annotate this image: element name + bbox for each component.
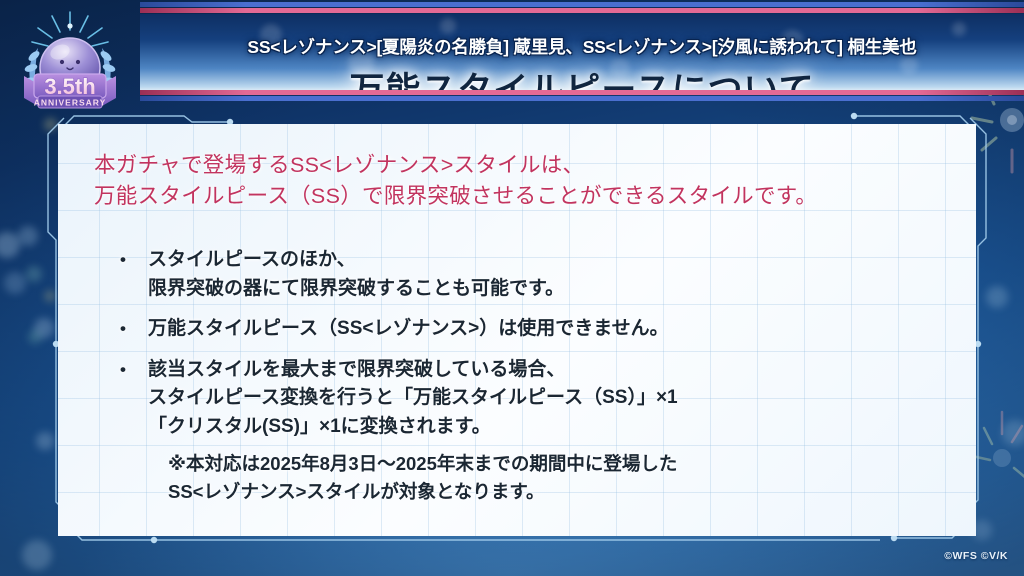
footnote-line-1: ※本対応は2025年8月3日〜2025年末までの期間中に登場した <box>168 450 677 478</box>
anniversary-logo: 3.5th ANNIVERSARY <box>8 4 132 110</box>
footnote: ※本対応は2025年8月3日〜2025年末までの期間中に登場した SS<レゾナン… <box>168 450 677 506</box>
list-item: 該当スタイルを最大まで限界突破している場合、 スタイルピース変換を行うと「万能ス… <box>104 356 944 442</box>
bullet-3-line-1: 該当スタイルを最大まで限界突破している場合、 <box>148 356 944 385</box>
bullet-3-line-2: スタイルピース変換を行うと「万能スタイルピース（SS）」×1 <box>148 384 944 413</box>
header-rule-bottom-blue <box>140 96 1024 101</box>
page-title: 万能スタイルピースについて <box>140 62 1024 90</box>
intro-line-2: 万能スタイルピース（SS）で限界突破させることができるスタイルです。 <box>94 181 817 212</box>
intro-text: 本ガチャで登場するSS<レゾナンス>スタイルは、 万能スタイルピース（SS）で限… <box>94 150 817 212</box>
bullet-1-line-1: スタイルピースのほか、 <box>148 246 944 275</box>
list-item: スタイルピースのほか、 限界突破の器にて限界突破することも可能です。 <box>104 246 944 303</box>
content-panel: 本ガチャで登場するSS<レゾナンス>スタイルは、 万能スタイルピース（SS）で限… <box>58 124 976 536</box>
header-rule-top-pink <box>140 8 1024 13</box>
copyright-notice: ©WFS ©V/K <box>944 550 1008 562</box>
list-item: 万能スタイルピース（SS<レゾナンス>）は使用できません。 <box>104 315 944 344</box>
bullet-3-line-3: 「クリスタル(SS)」×1に変換されます。 <box>148 413 944 442</box>
bullet-list: スタイルピースのほか、 限界突破の器にて限界突破することも可能です。 万能スタイ… <box>104 246 944 453</box>
intro-line-1: 本ガチャで登場するSS<レゾナンス>スタイルは、 <box>94 150 817 181</box>
footnote-line-2: SS<レゾナンス>スタイルが対象となります。 <box>168 478 677 506</box>
panel-content: 本ガチャで登場するSS<レゾナンス>スタイルは、 万能スタイルピース（SS）で限… <box>58 124 976 536</box>
anniversary-label: ANNIVERSARY <box>34 98 107 108</box>
header-band-body: SS<レゾナンス>[夏陽炎の名勝負] 蔵里見、SS<レゾナンス>[汐風に誘われて… <box>140 14 1024 90</box>
header-subtitle: SS<レゾナンス>[夏陽炎の名勝負] 蔵里見、SS<レゾナンス>[汐風に誘われて… <box>140 34 1024 59</box>
bullet-2-line-1: 万能スタイルピース（SS<レゾナンス>）は使用できません。 <box>148 315 944 344</box>
anniversary-number: 3.5th <box>44 74 95 99</box>
bullet-1-line-2: 限界突破の器にて限界突破することも可能です。 <box>148 275 944 304</box>
header-banner: SS<レゾナンス>[夏陽炎の名勝負] 蔵里見、SS<レゾナンス>[汐風に誘われて… <box>140 0 1024 104</box>
header-rule-bottom-pink <box>140 90 1024 95</box>
header-rule-top-blue <box>140 2 1024 7</box>
